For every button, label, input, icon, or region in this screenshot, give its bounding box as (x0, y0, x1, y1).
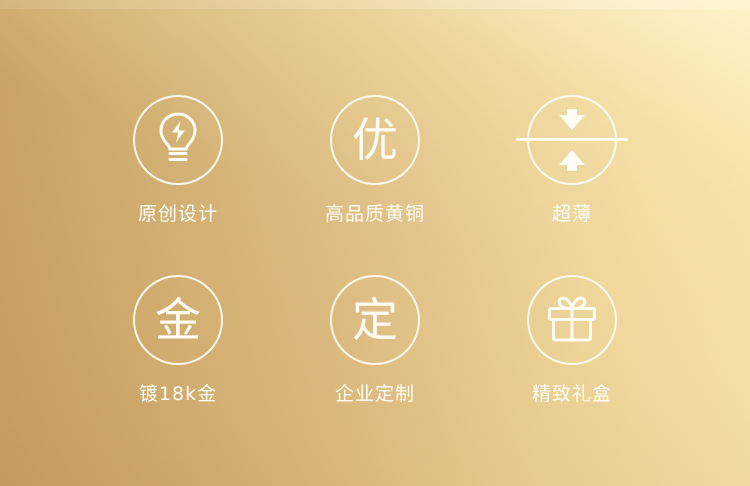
ultra-thin-arrows-icon (516, 112, 628, 168)
lightbulb-icon (152, 110, 204, 171)
feature-item-18k-gold-plated[interactable]: 金 镀18k金 (80, 275, 276, 406)
feature-item-original-design[interactable]: 原创设计 (80, 95, 276, 226)
icon-circle (133, 95, 223, 185)
arrow-down-icon (559, 115, 585, 130)
feature-label: 镀18k金 (80, 382, 276, 406)
icon-circle: 定 (330, 275, 420, 365)
feature-label: 原创设计 (80, 202, 276, 226)
character-jin-icon: 金 (155, 297, 201, 343)
character-you-icon: 优 (352, 117, 398, 163)
icon-circle (527, 95, 617, 185)
feature-item-ultra-thin[interactable]: 超薄 (474, 95, 670, 226)
gift-box-icon (544, 292, 600, 349)
icon-circle: 金 (133, 275, 223, 365)
arrow-up-icon (559, 150, 585, 165)
feature-grid: 原创设计 优 高品质黄铜 超薄 金 镀18k金 (0, 0, 750, 486)
character-ding-icon: 定 (352, 297, 398, 343)
feature-item-gift-box[interactable]: 精致礼盒 (474, 275, 670, 406)
feature-label: 超薄 (474, 202, 670, 226)
icon-circle: 优 (330, 95, 420, 185)
feature-label: 企业定制 (277, 382, 473, 406)
feature-label: 高品质黄铜 (277, 202, 473, 226)
feature-label: 精致礼盒 (474, 382, 670, 406)
feature-item-corporate-customization[interactable]: 定 企业定制 (277, 275, 473, 406)
icon-circle (527, 275, 617, 365)
divider-line (516, 138, 628, 141)
feature-highlights-banner: 原创设计 优 高品质黄铜 超薄 金 镀18k金 (0, 0, 750, 486)
feature-item-high-quality-brass[interactable]: 优 高品质黄铜 (277, 95, 473, 226)
